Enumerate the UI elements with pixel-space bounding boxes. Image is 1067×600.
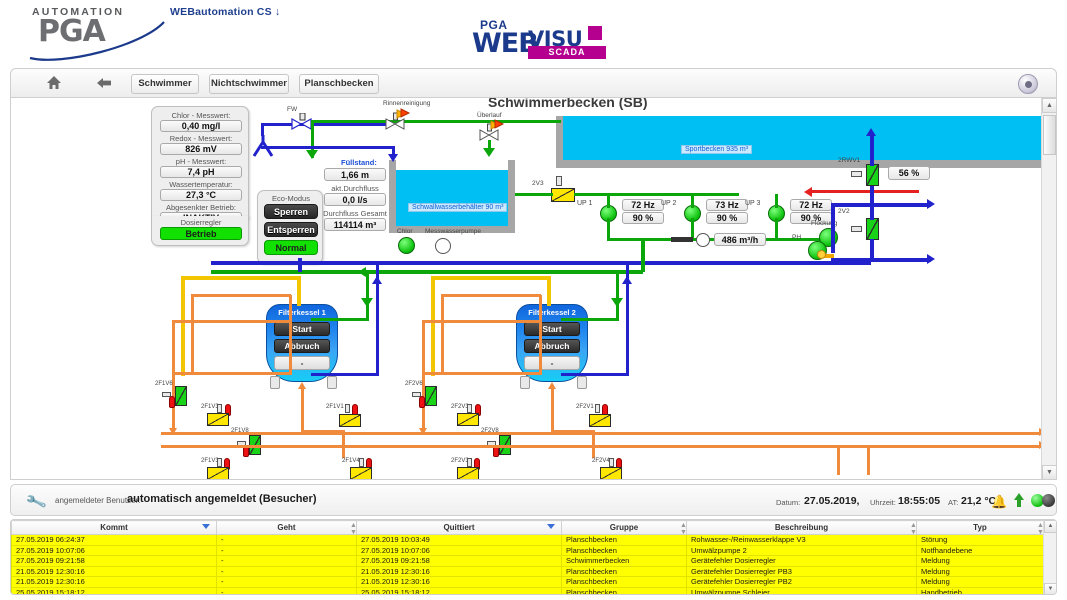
chlor-indicator[interactable] bbox=[398, 237, 415, 254]
status-bar: 🔧 angemeldeter Benutzer: automatisch ang… bbox=[10, 484, 1057, 516]
alarm-table-container: Kommt Geht▲▼ Quittiert Gruppe▲▼ Beschrei… bbox=[10, 519, 1057, 595]
tab-schwimmer[interactable]: Schwimmer bbox=[131, 74, 199, 94]
pump-up2-hz: 73 Hz bbox=[706, 199, 748, 211]
pipe-f2-green-riser bbox=[616, 274, 619, 320]
pump-up1-pct: 90 % bbox=[622, 212, 664, 224]
dosierregler-label: Dosierregler bbox=[152, 218, 250, 227]
alarm-col-typ-label: Typ bbox=[973, 523, 987, 532]
cell-gruppe: Planschbecken bbox=[562, 566, 687, 577]
pool-label: Sportbecken 935 m³ bbox=[681, 145, 752, 154]
surge-tank-label: Schwallwasserbehälter 90 m³ bbox=[408, 203, 507, 212]
wassertemperatur-label: Wassertemperatur: bbox=[152, 180, 250, 189]
pipe-f1-orange-v2 bbox=[289, 295, 292, 373]
valve-2f1v3-actuator bbox=[217, 404, 222, 413]
dosierregler-panel: Dosierregler Betrieb bbox=[151, 216, 249, 246]
cell-geht: - bbox=[217, 545, 357, 556]
arrow-blue-up-f1 bbox=[372, 276, 382, 284]
sort-desc-icon[interactable] bbox=[202, 524, 210, 529]
arrow-orange-up-f1 bbox=[298, 382, 306, 389]
cell-beschreibung: Umwälzpumpe Schleier bbox=[687, 587, 917, 595]
arrow-blue-up-f2 bbox=[622, 276, 632, 284]
filter-1-status-field: - bbox=[274, 356, 330, 370]
pump-ph-label: PH bbox=[792, 234, 801, 241]
valve-2f2v1[interactable] bbox=[589, 414, 611, 427]
pump-up3-label: UP 3 bbox=[745, 200, 760, 207]
alarm-col-kommt-label: Kommt bbox=[100, 523, 128, 532]
cell-gruppe: Schwimmerbecken bbox=[562, 556, 687, 567]
cell-geht: - bbox=[217, 587, 357, 595]
refresh-icon[interactable] bbox=[1018, 74, 1038, 94]
time-label: Uhrzeit: bbox=[870, 498, 896, 507]
pump-up3-hz: 72 Hz bbox=[790, 199, 832, 211]
pipe-f1-green-riser bbox=[366, 274, 369, 320]
alarm-col-kommt[interactable]: Kommt bbox=[12, 521, 217, 535]
filter-2-status-field: - bbox=[524, 356, 580, 370]
date-value: 27.05.2019, bbox=[804, 495, 859, 507]
valve-2f1v6-label: 2F1V6 bbox=[155, 381, 173, 387]
filter-2-start-button[interactable]: Start bbox=[524, 322, 580, 336]
valve-2f2v6[interactable] bbox=[425, 386, 437, 406]
alarm-col-beschreibung-label: Beschreibung bbox=[775, 523, 828, 532]
pipe-f2-orange-bottom bbox=[551, 388, 554, 433]
pipe-f1-orange-outer bbox=[172, 320, 175, 434]
pipe-f2-orange-mid bbox=[422, 320, 542, 323]
filter-1-title: Filterkessel 1 bbox=[266, 308, 338, 317]
cell-beschreibung: Umwälzpumpe 2 bbox=[687, 545, 917, 556]
cell-typ: Handbetrieb bbox=[917, 587, 1044, 595]
navigation-toolbar: Schwimmer Nichtschwimmer Planschbecken bbox=[10, 68, 1057, 98]
pipe-up1-riser bbox=[607, 194, 610, 208]
logo-scada: SCADA bbox=[528, 46, 606, 59]
page-header: AUTOMATION PGA WEBautomation CS ↓ PGA WE… bbox=[0, 0, 1067, 64]
pump-up2-label: UP 2 bbox=[661, 200, 676, 207]
chlor-label: Chlor - Messwert: bbox=[152, 111, 250, 120]
fuellstand-value: 1,66 m bbox=[324, 168, 386, 181]
pool-water bbox=[563, 116, 1057, 160]
pipe-blue-to-surge bbox=[261, 146, 395, 149]
up-arrow-stem bbox=[1017, 499, 1021, 507]
pipe-up3-down bbox=[775, 218, 778, 240]
cell-typ: Meldung bbox=[917, 566, 1044, 577]
arrow-green-down-ueberlauf bbox=[483, 148, 495, 157]
valve-2rwv1-value: 56 % bbox=[888, 166, 930, 180]
valve-2f2v1-actuator bbox=[595, 404, 600, 413]
home-icon[interactable] bbox=[39, 74, 69, 94]
surge-tank-water bbox=[396, 170, 508, 226]
scroll-down-icon[interactable]: ▼ bbox=[1042, 465, 1057, 480]
pipe-blue-down-2v2 bbox=[831, 203, 835, 253]
valve-2f2v4-label: 2F2V4 bbox=[592, 458, 610, 464]
pipe-blue-2v2-top bbox=[870, 206, 874, 220]
cell-quittiert: 27.05.2019 10:07:06 bbox=[357, 545, 562, 556]
valve-2rwv1[interactable] bbox=[866, 164, 879, 186]
user-value: automatisch angemeldet (Besucher) bbox=[127, 493, 317, 505]
cell-kommt: 27.05.2019 09:21:58 bbox=[12, 556, 217, 567]
alarm-col-geht[interactable]: Geht▲▼ bbox=[217, 521, 357, 535]
cell-kommt: 21.05.2019 12:30:16 bbox=[12, 577, 217, 588]
chlor-value: 0,40 mg/l bbox=[160, 120, 242, 132]
valve-2f1v6[interactable] bbox=[175, 386, 187, 406]
valve-2f2v3[interactable] bbox=[457, 413, 479, 426]
arrow-red-left bbox=[804, 187, 812, 197]
alarm-col-beschreibung[interactable]: Beschreibung▲▼ bbox=[687, 521, 917, 535]
eco-modus-panel: Eco-Modus Sperren Entsperren Normal bbox=[257, 190, 323, 264]
arrow-green-down-f1 bbox=[361, 298, 373, 307]
valve-2f1v3b-actuator bbox=[217, 458, 222, 467]
pipe-red-return bbox=[811, 190, 919, 193]
pump-up1-label: UP 1 bbox=[577, 200, 592, 207]
pipe-blue-main-return bbox=[211, 261, 871, 265]
pipe-f1-yellow-down bbox=[297, 276, 301, 306]
filter-1-abbruch-button[interactable]: Abbruch bbox=[274, 339, 330, 353]
pipe-up2-riser bbox=[691, 194, 694, 208]
wrench-icon[interactable]: 🔧 bbox=[24, 490, 48, 513]
page-title: Schwimmerbecken (SB) bbox=[488, 98, 648, 110]
messwasserpumpe-icon[interactable] bbox=[435, 238, 451, 254]
pipe-f2-orange-v2 bbox=[539, 295, 542, 373]
pipe-orange-drop-a bbox=[837, 445, 840, 475]
valve-2f1v3b[interactable] bbox=[207, 467, 229, 480]
valve-2rwv1-label: 2RWV1 bbox=[838, 157, 860, 164]
eco-sperren-button[interactable]: Sperren bbox=[264, 204, 318, 219]
valve-2f2v3b-actuator bbox=[467, 458, 472, 467]
table-row[interactable]: 27.05.2019 06:24:37 - 27.05.2019 10:03:4… bbox=[12, 535, 1044, 546]
pipe-f1-orange-mid bbox=[172, 320, 292, 323]
webautomation-link[interactable]: WEBautomation CS ↓ bbox=[170, 6, 280, 18]
cell-gruppe: Planschbecken bbox=[562, 577, 687, 588]
pga-logo: AUTOMATION PGA bbox=[18, 4, 168, 52]
valve-2rwv1-actuator bbox=[851, 171, 862, 177]
pipe-f1-green-inlet bbox=[311, 318, 369, 321]
pipe-f1-yellow-top bbox=[181, 276, 301, 280]
flow-total-value: 486 m³/h bbox=[714, 233, 766, 246]
filter-2-leg-left bbox=[520, 376, 530, 389]
valve-rinnenreinigung-icon[interactable] bbox=[383, 108, 411, 130]
cell-beschreibung: Gerätefehler Dosierregler PB2 bbox=[687, 577, 917, 588]
measurement-panel: Chlor - Messwert: 0,40 mg/l Redox - Mess… bbox=[151, 106, 249, 222]
logo-pga-text: PGA bbox=[38, 14, 105, 49]
pipe-f1-orange-top bbox=[191, 294, 291, 297]
cell-typ: Meldung bbox=[917, 556, 1044, 567]
scroll-thumb[interactable] bbox=[1043, 115, 1056, 155]
flowmeter-bar bbox=[671, 237, 693, 242]
schematic-scrollbar[interactable]: ▲ ▼ bbox=[1041, 98, 1056, 480]
fuellstand-label: Füllstand: bbox=[341, 158, 377, 167]
bell-icon[interactable]: 🔔 bbox=[991, 494, 1007, 510]
valve-2f1v4-label: 2F1V4 bbox=[342, 458, 360, 464]
tab-nichtschwimmer[interactable]: Nichtschwimmer bbox=[209, 74, 289, 94]
valve-2f1v1-label: 2F1V1 bbox=[326, 404, 344, 410]
arrow-blue-down-surge bbox=[388, 154, 398, 162]
valve-2f1v1-actuator bbox=[345, 404, 350, 413]
pipe-orange-header-1 bbox=[161, 432, 1041, 435]
time-value: 18:55:05 bbox=[898, 495, 940, 507]
valve-2f2v3-actuator bbox=[467, 404, 472, 413]
wassertemperatur-value: 27,3 °C bbox=[160, 189, 242, 201]
alarm-col-gruppe-label: Gruppe bbox=[610, 523, 638, 532]
pipe-green-pump-header bbox=[574, 193, 739, 196]
pipe-blue-branch-right bbox=[831, 203, 931, 207]
table-row[interactable]: 21.05.2019 12:30:16 - 21.05.2019 12:30:1… bbox=[12, 566, 1044, 577]
valve-2v2-actuator bbox=[851, 226, 862, 232]
ph-label: pH - Messwert: bbox=[152, 157, 250, 166]
valve-2v3-actuator bbox=[556, 176, 562, 186]
scroll-up-icon[interactable]: ▲ bbox=[1042, 98, 1057, 113]
valve-ueberlauf-icon[interactable] bbox=[477, 119, 505, 143]
alarm-scroll-up-icon[interactable]: ▲ bbox=[1044, 520, 1057, 533]
cell-gruppe: Planschbecken bbox=[562, 545, 687, 556]
filter-1-leg-left bbox=[270, 376, 280, 389]
pipe-up3-riser bbox=[775, 194, 778, 208]
valve-rinnenreinigung-label: Rinnenreinigung bbox=[383, 100, 430, 107]
ph-value: 7,4 pH bbox=[160, 166, 242, 178]
table-row[interactable]: 27.05.2019 09:21:58 - 27.05.2019 09:21:5… bbox=[12, 556, 1044, 567]
cell-typ: Meldung bbox=[917, 577, 1044, 588]
logo-visu-accent bbox=[588, 26, 602, 40]
surge-tank-wall-right bbox=[508, 160, 515, 232]
pump-up2-pct: 90 % bbox=[706, 212, 748, 224]
cell-gruppe: Planschbecken bbox=[562, 535, 687, 546]
cell-typ: Störung bbox=[917, 535, 1044, 546]
pipe-f1-orange-low bbox=[172, 372, 292, 375]
cell-quittiert: 21.05.2019 12:30:16 bbox=[357, 577, 562, 588]
valve-fw-label: FW bbox=[287, 106, 297, 113]
eco-normal-button[interactable]: Normal bbox=[264, 240, 318, 255]
pump-up1-hz: 72 Hz bbox=[622, 199, 664, 211]
valve-2f1v3[interactable] bbox=[207, 413, 229, 426]
pipe-green-top bbox=[311, 120, 561, 123]
pipe-fw-horizontal bbox=[261, 123, 391, 126]
valve-2f1v4-actuator bbox=[359, 458, 364, 467]
eco-entsperren-button[interactable]: Entsperren bbox=[264, 222, 318, 237]
cell-kommt: 25.05.2019 15:18:12 bbox=[12, 587, 217, 595]
pipe-f1-yellow-left bbox=[181, 276, 185, 376]
valve-2v3-label: 2V3 bbox=[532, 180, 544, 187]
cell-geht: - bbox=[217, 556, 357, 567]
valve-2f2v4-actuator bbox=[609, 458, 614, 467]
valve-2v2-label: 2V2 bbox=[838, 208, 850, 215]
arrow-orange-up-f2 bbox=[548, 382, 556, 389]
table-row[interactable]: 27.05.2019 10:07:06 - 27.05.2019 10:07:0… bbox=[12, 545, 1044, 556]
durchfluss-gesamt-value: 114114 m³ bbox=[324, 218, 386, 231]
pipe-blue-stub bbox=[298, 258, 302, 272]
cell-typ: Notfhandebene bbox=[917, 545, 1044, 556]
cell-beschreibung: Rohwasser-/Reinwasserklappe V3 bbox=[687, 535, 917, 546]
valve-ueberlauf-label: Überlauf bbox=[477, 112, 502, 119]
valve-2f2v3b[interactable] bbox=[457, 467, 479, 480]
pipe-orange-drop-b bbox=[867, 445, 870, 475]
alarm-col-typ[interactable]: Typ▲▼ bbox=[917, 521, 1044, 535]
sort-desc-icon-2[interactable] bbox=[547, 524, 555, 529]
table-row[interactable]: 25.05.2019 15:18:12 - 25.05.2019 15:18:1… bbox=[12, 587, 1044, 595]
eco-modus-title: Eco-Modus bbox=[258, 194, 324, 203]
process-schematic: Schwimmerbecken (SB) Chlor - Messwert: 0… bbox=[10, 98, 1057, 480]
pipe-f2-yellow-down bbox=[547, 276, 551, 306]
valve-2v3[interactable] bbox=[551, 188, 575, 202]
cell-kommt: 27.05.2019 10:07:06 bbox=[12, 545, 217, 556]
alarm-table-header-row: Kommt Geht▲▼ Quittiert Gruppe▲▼ Beschrei… bbox=[12, 521, 1044, 535]
cell-beschreibung: Gerätefehler Dosierregler PB3 bbox=[687, 566, 917, 577]
akt-durchfluss-label: akt.Durchfluss bbox=[324, 184, 386, 193]
pipe-blue-to-pool bbox=[870, 134, 874, 166]
ph-inject-point bbox=[817, 250, 826, 259]
cell-quittiert: 27.05.2019 09:21:58 bbox=[357, 556, 562, 567]
filter-1-start-button[interactable]: Start bbox=[274, 322, 330, 336]
arrow-green-down-f2 bbox=[611, 298, 623, 307]
valve-2f2v6-label: 2F2V6 bbox=[405, 381, 423, 387]
cell-geht: - bbox=[217, 535, 357, 546]
cell-kommt: 27.05.2019 06:24:37 bbox=[12, 535, 217, 546]
abgesenkter-betrieb-label: Abgesenkter Betrieb: bbox=[152, 203, 250, 212]
alarm-col-quittiert-label: Quittiert bbox=[443, 523, 474, 532]
alarm-scroll-down-icon[interactable]: ▼ bbox=[1044, 583, 1057, 595]
cell-geht: - bbox=[217, 577, 357, 588]
pipe-green-surge-out bbox=[515, 193, 553, 196]
table-row[interactable]: 21.05.2019 12:30:16 - 21.05.2019 12:30:1… bbox=[12, 577, 1044, 588]
pipe-f2-yellow-top bbox=[431, 276, 551, 280]
cell-beschreibung: Gerätefehler Dosierregler bbox=[687, 556, 917, 567]
pipe-orange-header-2 bbox=[161, 445, 1041, 448]
cell-quittiert: 27.05.2019 10:03:49 bbox=[357, 535, 562, 546]
valve-2f2v1-label: 2F2V1 bbox=[576, 404, 594, 410]
cell-gruppe: Planschbecken bbox=[562, 587, 687, 595]
valve-2f2v4[interactable] bbox=[600, 467, 622, 480]
filter-2-title: Filterkessel 2 bbox=[516, 308, 588, 317]
filter-1-leg-right bbox=[327, 376, 337, 389]
valve-2f1v4[interactable] bbox=[350, 467, 372, 480]
redox-label: Redox - Messwert: bbox=[152, 134, 250, 143]
back-arrow-icon[interactable] bbox=[89, 74, 119, 94]
tab-planschbecken[interactable]: Planschbecken bbox=[299, 74, 379, 94]
arrow-green-down-fw bbox=[306, 150, 318, 159]
pipe-f2-blue-outlet bbox=[561, 373, 629, 376]
pipe-f2-green-inlet bbox=[561, 318, 619, 321]
cell-geht: - bbox=[217, 566, 357, 577]
pipe-f2-orange-outer bbox=[422, 320, 425, 434]
pipe-green-main-suction bbox=[211, 270, 643, 274]
valve-2v2[interactable] bbox=[866, 218, 879, 240]
pool-floor bbox=[556, 160, 1057, 168]
filter-2-leg-right bbox=[577, 376, 587, 389]
date-label: Datum: bbox=[776, 498, 800, 507]
pipe-f2-orange-v1 bbox=[441, 294, 444, 374]
pgawebvisu-logo: PGA WEB VISU SCADA bbox=[470, 18, 610, 54]
led-black-icon bbox=[1042, 494, 1055, 507]
arrow-blue-right-b bbox=[927, 254, 935, 264]
cell-quittiert: 21.05.2019 12:30:16 bbox=[357, 566, 562, 577]
surge-tank-wall-left bbox=[389, 160, 396, 232]
alarm-table: Kommt Geht▲▼ Quittiert Gruppe▲▼ Beschrei… bbox=[11, 520, 1044, 595]
arrow-blue-up-pool bbox=[866, 128, 876, 136]
arrow-blue-right-a bbox=[927, 199, 935, 209]
valve-2f1v1[interactable] bbox=[339, 414, 361, 427]
alarm-col-quittiert[interactable]: Quittiert bbox=[357, 521, 562, 535]
cell-quittiert: 25.05.2019 15:18:12 bbox=[357, 587, 562, 595]
cell-kommt: 21.05.2019 12:30:16 bbox=[12, 566, 217, 577]
messwasserpumpe-label: Messwasserpumpe bbox=[425, 228, 481, 235]
filter-2-abbruch-button[interactable]: Abbruch bbox=[524, 339, 580, 353]
redox-value: 826 mV bbox=[160, 143, 242, 155]
pipe-up1-down bbox=[607, 218, 610, 240]
pipe-f2-orange-low bbox=[422, 372, 542, 375]
flowmeter-icon bbox=[696, 233, 710, 247]
pipe-green-suction-riser bbox=[641, 241, 645, 272]
alarm-table-body: 27.05.2019 06:24:37 - 27.05.2019 10:03:4… bbox=[12, 535, 1044, 596]
dosierregler-value: Betrieb bbox=[160, 227, 242, 240]
pipe-f1-orange-bottom bbox=[301, 388, 304, 433]
chlor-indicator-label: Chlor bbox=[397, 228, 413, 235]
alarm-col-gruppe[interactable]: Gruppe▲▼ bbox=[562, 521, 687, 535]
pipe-f2-orange-top bbox=[441, 294, 541, 297]
pipe-f2-yellow-left bbox=[431, 276, 435, 376]
alarm-scrollbar[interactable]: ▲ ▼ bbox=[1043, 520, 1056, 595]
pipe-f1-blue-outlet bbox=[311, 373, 379, 376]
temp-label: AT: bbox=[948, 498, 958, 507]
durchfluss-gesamt-label: Durchfluss Gesamt bbox=[321, 209, 389, 218]
arrow-green-left-main bbox=[358, 267, 366, 277]
pipe-f1-orange-v1 bbox=[191, 294, 194, 374]
akt-durchfluss-value: 0,0 l/s bbox=[324, 193, 386, 206]
alarm-col-geht-label: Geht bbox=[277, 523, 295, 532]
